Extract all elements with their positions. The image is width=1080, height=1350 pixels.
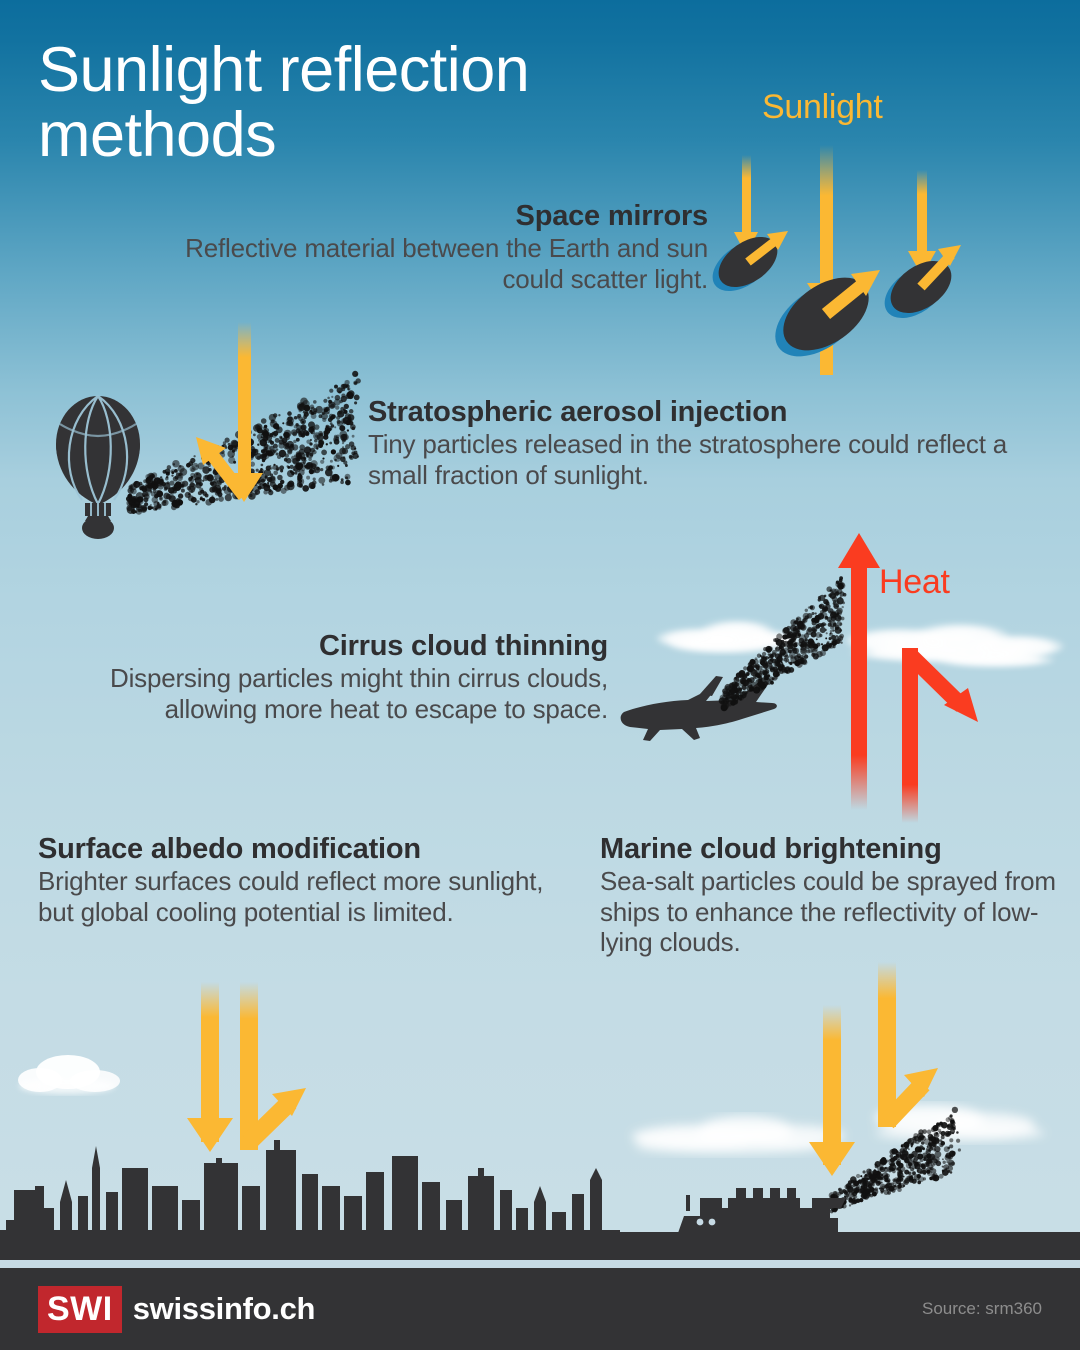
footer-bar: SWI swissinfo.ch Source: srm360 [0, 1268, 1080, 1350]
method-heading-cirrus-cloud-thinning: Cirrus cloud thinning [100, 630, 608, 663]
method-heading-space-mirrors: Space mirrors [180, 200, 708, 233]
page-title-line-1: Sunlight reflection [38, 38, 678, 103]
method-block-cirrus-cloud-thinning: Cirrus cloud thinning Dispersing particl… [100, 630, 608, 724]
method-body-surface-albedo-modification: Brighter surfaces could reflect more sun… [38, 866, 548, 927]
method-block-marine-cloud-brightening: Marine cloud brightening Sea-salt partic… [600, 833, 1070, 958]
swissinfo-logo[interactable]: SWI swissinfo.ch [38, 1286, 315, 1333]
sky-gradient-background [0, 0, 1080, 1255]
method-body-space-mirrors: Reflective material between the Earth an… [180, 233, 708, 294]
source-credit: Source: srm360 [922, 1299, 1042, 1319]
method-heading-marine-cloud-brightening: Marine cloud brightening [600, 833, 1070, 866]
method-body-cirrus-cloud-thinning: Dispersing particles might thin cirrus c… [100, 663, 608, 724]
method-block-space-mirrors: Space mirrors Reflective material betwee… [180, 200, 708, 294]
infographic-canvas: Sunlight reflection methods Sunlight Hea… [0, 0, 1080, 1350]
method-body-stratospheric-aerosol-injection: Tiny particles released in the stratosph… [368, 429, 1018, 490]
method-heading-surface-albedo-modification: Surface albedo modification [38, 833, 548, 866]
method-block-stratospheric-aerosol-injection: Stratospheric aerosol injection Tiny par… [368, 396, 1018, 490]
swi-logo-mark: SWI [38, 1286, 122, 1333]
page-title-line-2: methods [38, 103, 678, 168]
sunlight-label: Sunlight [762, 88, 882, 127]
method-block-surface-albedo-modification: Surface albedo modification Brighter sur… [38, 833, 548, 927]
method-body-marine-cloud-brightening: Sea-salt particles could be sprayed from… [600, 866, 1070, 958]
swissinfo-wordmark: swissinfo.ch [133, 1291, 315, 1327]
heat-label: Heat [879, 563, 950, 602]
page-title: Sunlight reflection methods [38, 38, 678, 168]
method-heading-stratospheric-aerosol-injection: Stratospheric aerosol injection [368, 396, 1018, 429]
